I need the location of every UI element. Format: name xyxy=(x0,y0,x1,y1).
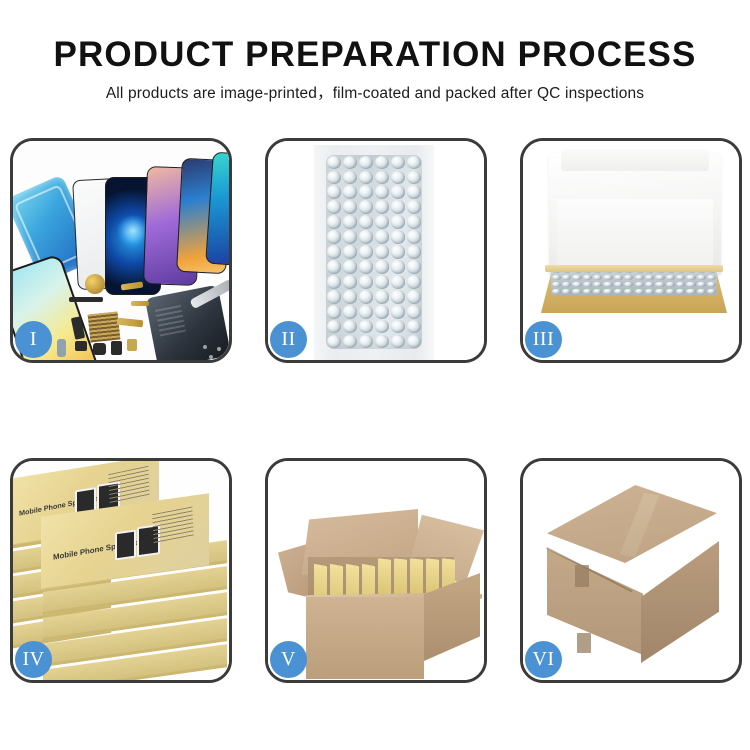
packed-retail-box xyxy=(378,558,391,597)
bubble xyxy=(407,230,422,244)
step-badge-3: III xyxy=(525,321,562,358)
bubble xyxy=(375,156,390,170)
bubble xyxy=(327,275,342,289)
bubble xyxy=(593,282,602,288)
speaker-icon xyxy=(85,274,105,294)
bubble xyxy=(603,282,612,288)
bubble xyxy=(624,282,633,288)
step-badge-1: I xyxy=(15,321,52,358)
bubble xyxy=(391,275,406,289)
page-subtitle: All products are image-printed，film-coat… xyxy=(0,82,750,106)
tray-lip xyxy=(545,265,723,272)
bubble xyxy=(327,260,342,274)
carton-right-face xyxy=(641,541,719,663)
bubble xyxy=(407,185,422,199)
bubble xyxy=(391,230,406,244)
bubble-wrap-pouch-icon xyxy=(326,155,422,349)
bubble xyxy=(359,156,374,170)
bubble xyxy=(407,275,422,289)
flex-cable-icon xyxy=(131,301,149,306)
bubble xyxy=(676,289,685,295)
bubble xyxy=(686,275,695,281)
bubble xyxy=(697,282,706,288)
bubble xyxy=(359,275,374,289)
bubble xyxy=(645,289,654,295)
bubble xyxy=(697,275,706,281)
bubble xyxy=(375,185,390,199)
bubble xyxy=(391,171,406,185)
bubble xyxy=(572,282,581,288)
bubble xyxy=(375,275,390,289)
bubble xyxy=(645,275,654,281)
bubble xyxy=(391,185,406,199)
bubble xyxy=(359,185,374,199)
bubble xyxy=(614,289,623,295)
process-grid: I II III xyxy=(10,138,742,683)
bubble xyxy=(562,282,571,288)
bubble xyxy=(327,156,342,170)
bubble xyxy=(686,282,695,288)
bubble xyxy=(375,171,390,185)
bubble xyxy=(407,215,422,229)
bubble xyxy=(666,289,675,295)
screw-icon xyxy=(203,345,207,349)
bubble xyxy=(552,275,561,281)
bubble xyxy=(407,305,422,319)
carton-tab xyxy=(575,565,589,587)
bubble xyxy=(375,320,390,334)
bubble xyxy=(343,335,358,349)
bubble xyxy=(391,215,406,229)
bubble xyxy=(676,275,685,281)
box-lid-top xyxy=(561,149,709,171)
bubble xyxy=(655,282,664,288)
bubble xyxy=(552,289,561,295)
screw-icon xyxy=(209,355,213,359)
process-step-2[interactable]: II xyxy=(265,138,487,363)
process-step-3[interactable]: III xyxy=(520,138,742,363)
carton-tab xyxy=(577,633,591,653)
bubble xyxy=(583,275,592,281)
packed-retail-box xyxy=(410,558,423,597)
bubble xyxy=(343,200,358,214)
bubble xyxy=(391,335,406,349)
bubble xyxy=(343,245,358,259)
bubble xyxy=(562,275,571,281)
bubble xyxy=(391,156,406,170)
bubble xyxy=(407,245,422,259)
bubble xyxy=(343,215,358,229)
bubble xyxy=(327,171,342,185)
bubble xyxy=(614,282,623,288)
small-part-icon xyxy=(111,341,122,355)
bubble xyxy=(624,275,633,281)
packed-retail-box xyxy=(394,558,407,597)
bubble xyxy=(603,275,612,281)
bubble xyxy=(327,305,342,319)
bubble xyxy=(375,200,390,214)
bubble xyxy=(359,230,374,244)
process-step-4[interactable]: Mobile Phone Spare PartsMobile Phone Spa… xyxy=(10,458,232,683)
bubble xyxy=(407,171,422,185)
bubble xyxy=(391,290,406,304)
bubble xyxy=(407,335,422,349)
bubble xyxy=(343,230,358,244)
small-part-icon xyxy=(75,341,87,351)
bubble xyxy=(343,156,358,170)
bubble xyxy=(676,282,685,288)
bubble xyxy=(593,275,602,281)
bubble xyxy=(327,290,342,304)
bubble xyxy=(407,156,422,170)
bubble xyxy=(359,215,374,229)
bubble xyxy=(645,282,654,288)
bubble xyxy=(635,282,644,288)
bubble xyxy=(697,289,706,295)
bubble xyxy=(407,320,422,334)
bubble xyxy=(407,200,422,214)
bubble xyxy=(407,260,422,274)
bubble xyxy=(583,282,592,288)
bubble xyxy=(391,260,406,274)
bubble xyxy=(343,290,358,304)
bubble xyxy=(327,185,342,199)
bubble xyxy=(359,171,374,185)
bubble xyxy=(375,260,390,274)
bubble xyxy=(707,289,716,295)
bubble xyxy=(327,230,342,244)
bubble xyxy=(666,275,675,281)
bubble xyxy=(572,275,581,281)
bubble xyxy=(707,282,716,288)
box-spec-lines xyxy=(152,507,194,544)
bubble xyxy=(391,305,406,319)
bubble xyxy=(343,260,358,274)
flex-cable-icon xyxy=(117,318,144,328)
bubble xyxy=(572,289,581,295)
bubble xyxy=(655,289,664,295)
box-lid-face xyxy=(557,199,713,273)
bubble xyxy=(562,289,571,295)
bubble xyxy=(407,290,422,304)
bubble xyxy=(655,275,664,281)
bubble xyxy=(614,275,623,281)
bubble xyxy=(375,230,390,244)
small-part-icon xyxy=(127,339,137,351)
bubble xyxy=(552,282,561,288)
bubble xyxy=(359,245,374,259)
bubble xyxy=(343,275,358,289)
bubble xyxy=(343,185,358,199)
box-spec-lines xyxy=(108,466,150,504)
bubble xyxy=(343,320,358,334)
step-badge-5: V xyxy=(270,641,307,678)
bubble xyxy=(391,245,406,259)
small-part-icon xyxy=(93,343,106,355)
bubble xyxy=(359,305,374,319)
bubble xyxy=(666,282,675,288)
bubble xyxy=(391,200,406,214)
page-title: PRODUCT PREPARATION PROCESS xyxy=(0,34,750,76)
step-badge-2: II xyxy=(270,321,307,358)
bubble xyxy=(583,289,592,295)
bubble xyxy=(359,260,374,274)
bubble xyxy=(359,335,374,349)
bubble xyxy=(635,275,644,281)
step-badge-6: VI xyxy=(525,641,562,678)
gold-chip-icon xyxy=(88,312,121,343)
bubble xyxy=(635,289,644,295)
bubble xyxy=(359,290,374,304)
bubble xyxy=(593,289,602,295)
bubble xyxy=(343,305,358,319)
bubble xyxy=(624,289,633,295)
bubble xyxy=(359,200,374,214)
process-step-5[interactable]: V xyxy=(265,458,487,683)
bubble xyxy=(327,200,342,214)
bubble xyxy=(375,335,390,349)
bubble xyxy=(391,320,406,334)
bubble xyxy=(327,320,342,334)
bubble xyxy=(686,289,695,295)
bubble xyxy=(603,289,612,295)
bubble xyxy=(707,275,716,281)
box-artwork-thumb xyxy=(115,529,136,560)
carton-front-face xyxy=(306,597,424,679)
sim-tray-icon xyxy=(57,339,66,357)
bubble xyxy=(375,245,390,259)
bubble xyxy=(375,290,390,304)
bubble xyxy=(327,245,342,259)
bubble xyxy=(327,335,342,349)
step-badge-4: IV xyxy=(15,641,52,678)
bubble xyxy=(327,215,342,229)
bubble xyxy=(343,171,358,185)
bubble-grid xyxy=(326,155,422,349)
earpiece-icon xyxy=(69,297,103,302)
page-header: PRODUCT PREPARATION PROCESS All products… xyxy=(0,0,750,106)
bubble xyxy=(375,305,390,319)
screw-icon xyxy=(217,347,221,351)
process-step-1[interactable]: I xyxy=(10,138,232,363)
bubble xyxy=(375,215,390,229)
process-step-6[interactable]: VI xyxy=(520,458,742,683)
bubble xyxy=(359,320,374,334)
